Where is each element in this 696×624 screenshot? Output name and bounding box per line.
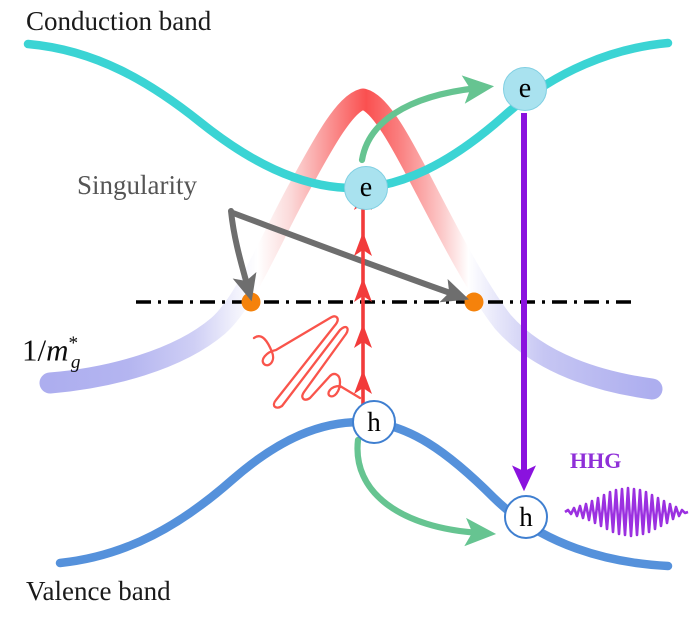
- driving-laser-field: [254, 316, 360, 407]
- electron-particle-low: e: [344, 166, 388, 210]
- mass-superscript: *: [69, 333, 79, 354]
- mass-subscript: g: [71, 352, 81, 373]
- figure-canvas: e e h h Conduction band Valence band Sin…: [0, 0, 696, 624]
- valence-band-curve: [60, 422, 668, 566]
- conduction-band-label: Conduction band: [26, 8, 211, 35]
- hole-low-label: h: [367, 409, 381, 436]
- singularity-label: Singularity: [77, 172, 197, 199]
- singularity-pointer-left-arrow: [231, 211, 248, 288]
- valence-band-label: Valence band: [26, 578, 171, 605]
- hhg-wave-packet: [565, 488, 688, 536]
- electron-particle-high: e: [503, 67, 547, 111]
- mass-variable: m: [46, 332, 68, 367]
- electron-high-label: e: [519, 75, 531, 103]
- hole-particle-high: h: [504, 495, 548, 539]
- singularity-marker-left: [242, 293, 261, 312]
- inverse-reduced-mass-label: 1/m*g: [22, 334, 80, 372]
- hole-particle-low: h: [352, 400, 396, 444]
- hole-high-label: h: [519, 504, 533, 531]
- band-structure-diagram: [0, 0, 696, 624]
- electron-low-label: e: [360, 174, 372, 202]
- hhg-label: HHG: [570, 450, 621, 472]
- hole-transport-arrow: [357, 440, 480, 533]
- inverse-reduced-mass-curve: [50, 99, 652, 389]
- singularity-marker-right: [465, 293, 484, 312]
- mass-prefix: 1/: [22, 332, 46, 367]
